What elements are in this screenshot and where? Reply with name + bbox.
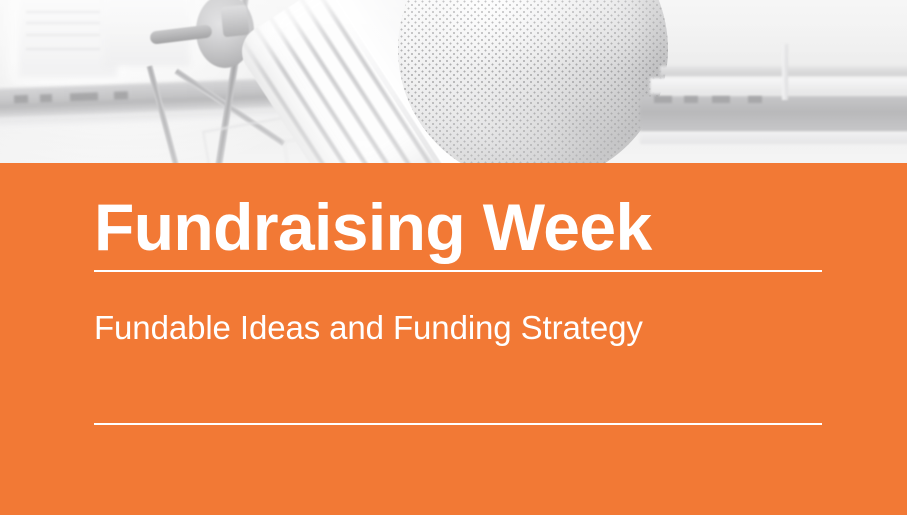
background-paper-lines <box>26 4 100 62</box>
desk-vertical-post <box>782 44 788 100</box>
desk-band-lower <box>640 132 907 144</box>
page-subtitle: Fundable Ideas and Funding Strategy <box>94 311 643 344</box>
title-slide: Fundraising Week Fundable Ideas and Fund… <box>0 0 907 515</box>
footer-divider <box>94 423 822 425</box>
microphone-mesh-pattern <box>398 0 668 163</box>
title-divider <box>94 270 822 272</box>
mic-stand-clamp-knob <box>221 5 250 38</box>
microphone-grille <box>398 0 668 163</box>
desk-band-middle <box>650 78 907 94</box>
header-banner-image <box>0 0 907 163</box>
page-title: Fundraising Week <box>94 194 652 260</box>
title-panel: Fundraising Week Fundable Ideas and Fund… <box>0 163 907 515</box>
desk-band-markings <box>654 96 834 103</box>
